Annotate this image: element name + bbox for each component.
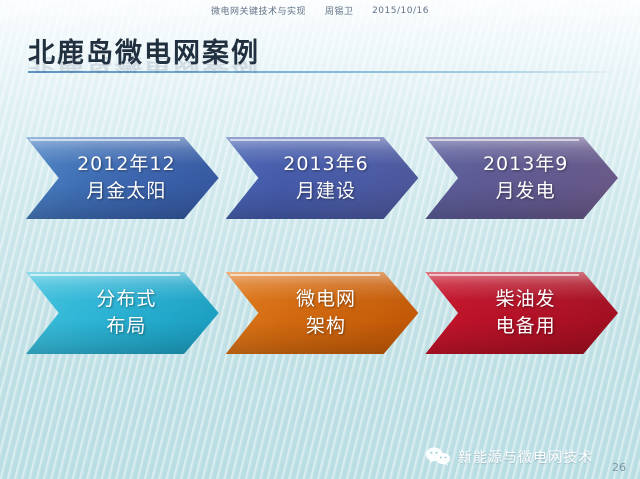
chevron-label: 分布式 布局 (82, 286, 162, 340)
chevron-highlight (230, 139, 380, 141)
chevron-highlight (30, 139, 180, 141)
chevron-highlight (429, 139, 579, 141)
chevron-highlight (30, 274, 180, 276)
chevron-label-line1: 柴油发 (496, 288, 556, 310)
chevron-label-line2: 架构 (296, 313, 356, 340)
chevron-label: 2013年9 月发电 (469, 151, 574, 205)
chevron-label-line1: 2013年6 (283, 153, 368, 175)
chevron-label: 微电网 架构 (282, 286, 362, 340)
chevron-label-line1: 2013年9 (483, 153, 568, 175)
chevron-label: 2013年6 月建设 (269, 151, 374, 205)
chevron-label-line1: 微电网 (296, 288, 356, 310)
chevron-item[interactable]: 微电网 架构 (226, 272, 419, 354)
slide: 微电网关键技术与实现 周锡卫 2015/10/16 北鹿岛微电网案例 北鹿岛微电… (0, 0, 640, 479)
chevron-item[interactable]: 2013年6 月建设 (226, 137, 419, 219)
header-course: 微电网关键技术与实现 (211, 4, 306, 17)
slide-header: 微电网关键技术与实现 周锡卫 2015/10/16 (0, 4, 640, 17)
page-title: 北鹿岛微电网案例 (28, 38, 612, 70)
title-block: 北鹿岛微电网案例 北鹿岛微电网案例 (28, 38, 612, 88)
title-underline (28, 71, 612, 73)
timeline-row-2: 分布式 布局 微电网 架构 柴油发 电备用 (26, 272, 618, 354)
footer-branding: 新能源与微电网技术 (425, 446, 593, 467)
footer-brand-text: 新能源与微电网技术 (458, 447, 593, 467)
timeline-row-1: 2012年12 月金太阳 2013年6 月建设 2013年9 月发电 (26, 137, 618, 219)
chevron-label: 柴油发 电备用 (482, 286, 562, 340)
chevron-label-line1: 2012年12 (77, 153, 176, 175)
wechat-icon (425, 446, 451, 467)
header-date: 2015/10/16 (372, 6, 429, 16)
chevron-label-line2: 月建设 (283, 178, 368, 205)
chevron-highlight (429, 274, 579, 276)
chevron-item[interactable]: 2013年9 月发电 (425, 137, 618, 219)
chevron-highlight (230, 274, 380, 276)
chevron-label: 2012年12 月金太阳 (63, 151, 182, 205)
chevron-label-line2: 月发电 (483, 178, 568, 205)
chevron-item[interactable]: 柴油发 电备用 (425, 272, 618, 354)
chevron-item[interactable]: 2012年12 月金太阳 (26, 137, 219, 219)
chevron-label-line1: 分布式 (96, 288, 156, 310)
header-author: 周锡卫 (325, 4, 354, 17)
chevron-label-line2: 电备用 (496, 313, 556, 340)
chevron-label-line2: 月金太阳 (77, 178, 176, 205)
page-number: 26 (612, 461, 626, 474)
chevron-label-line2: 布局 (96, 313, 156, 340)
chevron-item[interactable]: 分布式 布局 (26, 272, 219, 354)
